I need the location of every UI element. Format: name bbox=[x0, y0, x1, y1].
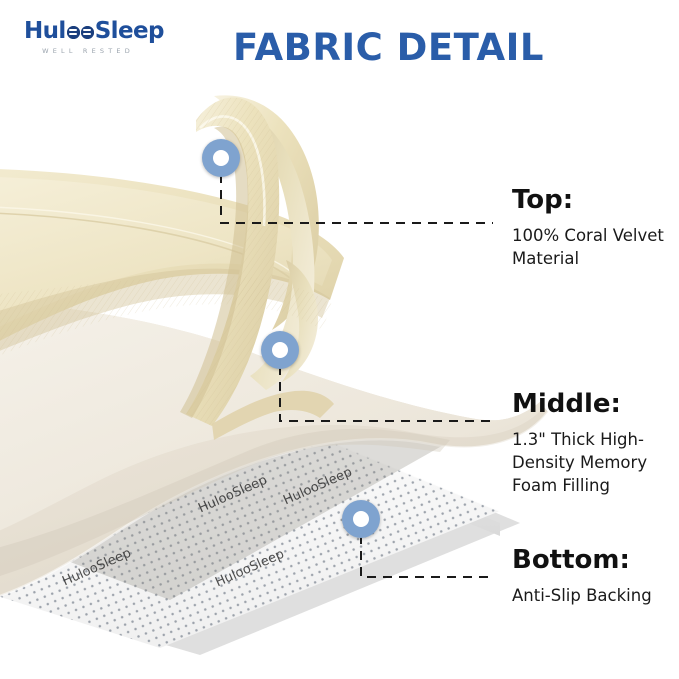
callout-top: Top: 100% Coral Velvet Material bbox=[512, 186, 672, 270]
callout-top-description: 100% Coral Velvet Material bbox=[512, 224, 672, 271]
callout-bottom-description: Anti-Slip Backing bbox=[512, 584, 652, 607]
brand-tagline: WELL RESTED bbox=[24, 47, 152, 55]
callout-top-title: Top: bbox=[512, 186, 672, 215]
callout-middle-title: Middle: bbox=[512, 390, 672, 419]
callout-marker-middle[interactable] bbox=[261, 331, 299, 369]
brand-logo: Hul Sleep WELL RESTED bbox=[24, 20, 169, 64]
callout-bottom: Bottom: Anti-Slip Backing bbox=[512, 546, 652, 607]
callout-middle: Middle: 1.3" Thick High-Density Memory F… bbox=[512, 390, 672, 498]
page-title: FABRIC DETAIL bbox=[233, 26, 544, 69]
callout-bottom-title: Bottom: bbox=[512, 546, 652, 575]
brand-name-part1: Hul bbox=[24, 20, 66, 43]
callout-marker-top[interactable] bbox=[202, 139, 240, 177]
brand-name-part2: Sleep bbox=[95, 20, 164, 43]
fabric-detail-infographic: Hul Sleep WELL RESTED FABRIC DETAIL Top:… bbox=[0, 0, 679, 679]
brand-logo-wordmark: Hul Sleep bbox=[24, 20, 169, 43]
callout-middle-description: 1.3" Thick High-Density Memory Foam Fill… bbox=[512, 428, 672, 498]
sleepy-eyes-icon bbox=[67, 26, 94, 39]
callout-marker-bottom[interactable] bbox=[342, 500, 380, 538]
